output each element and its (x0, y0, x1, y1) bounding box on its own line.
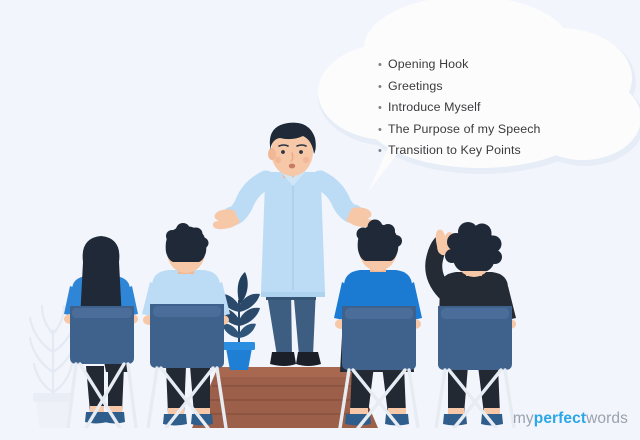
myperfectwords-logo: myperfectwords (513, 410, 628, 428)
bullet-icon: • (378, 103, 388, 114)
list-item-label: Opening Hook (388, 58, 468, 71)
list-item-label: Greetings (388, 80, 443, 93)
list-item-label: Introduce Myself (388, 101, 481, 114)
speech-bubble-list: • Opening Hook • Greetings • Introduce M… (378, 58, 588, 166)
list-item: • Transition to Key Points (378, 144, 588, 157)
logo-part-my: my (513, 410, 534, 427)
list-item-label: The Purpose of my Speech (388, 123, 541, 136)
logo-part-words: words (586, 410, 628, 427)
logo-part-perfect: perfect (534, 410, 586, 427)
bullet-icon: • (378, 125, 388, 136)
illustration-scene: • Opening Hook • Greetings • Introduce M… (0, 0, 640, 440)
list-item: • Introduce Myself (378, 101, 588, 114)
list-item: • Greetings (378, 80, 588, 93)
background-plant-pot (36, 398, 70, 432)
floor-line (0, 428, 640, 440)
bullet-icon: • (378, 82, 388, 93)
list-item: • The Purpose of my Speech (378, 123, 588, 136)
bullet-icon: • (378, 60, 388, 71)
list-item: • Opening Hook (378, 58, 588, 71)
bullet-icon: • (378, 146, 388, 157)
list-item-label: Transition to Key Points (388, 144, 521, 157)
background-plant-pot-rim (33, 393, 73, 402)
